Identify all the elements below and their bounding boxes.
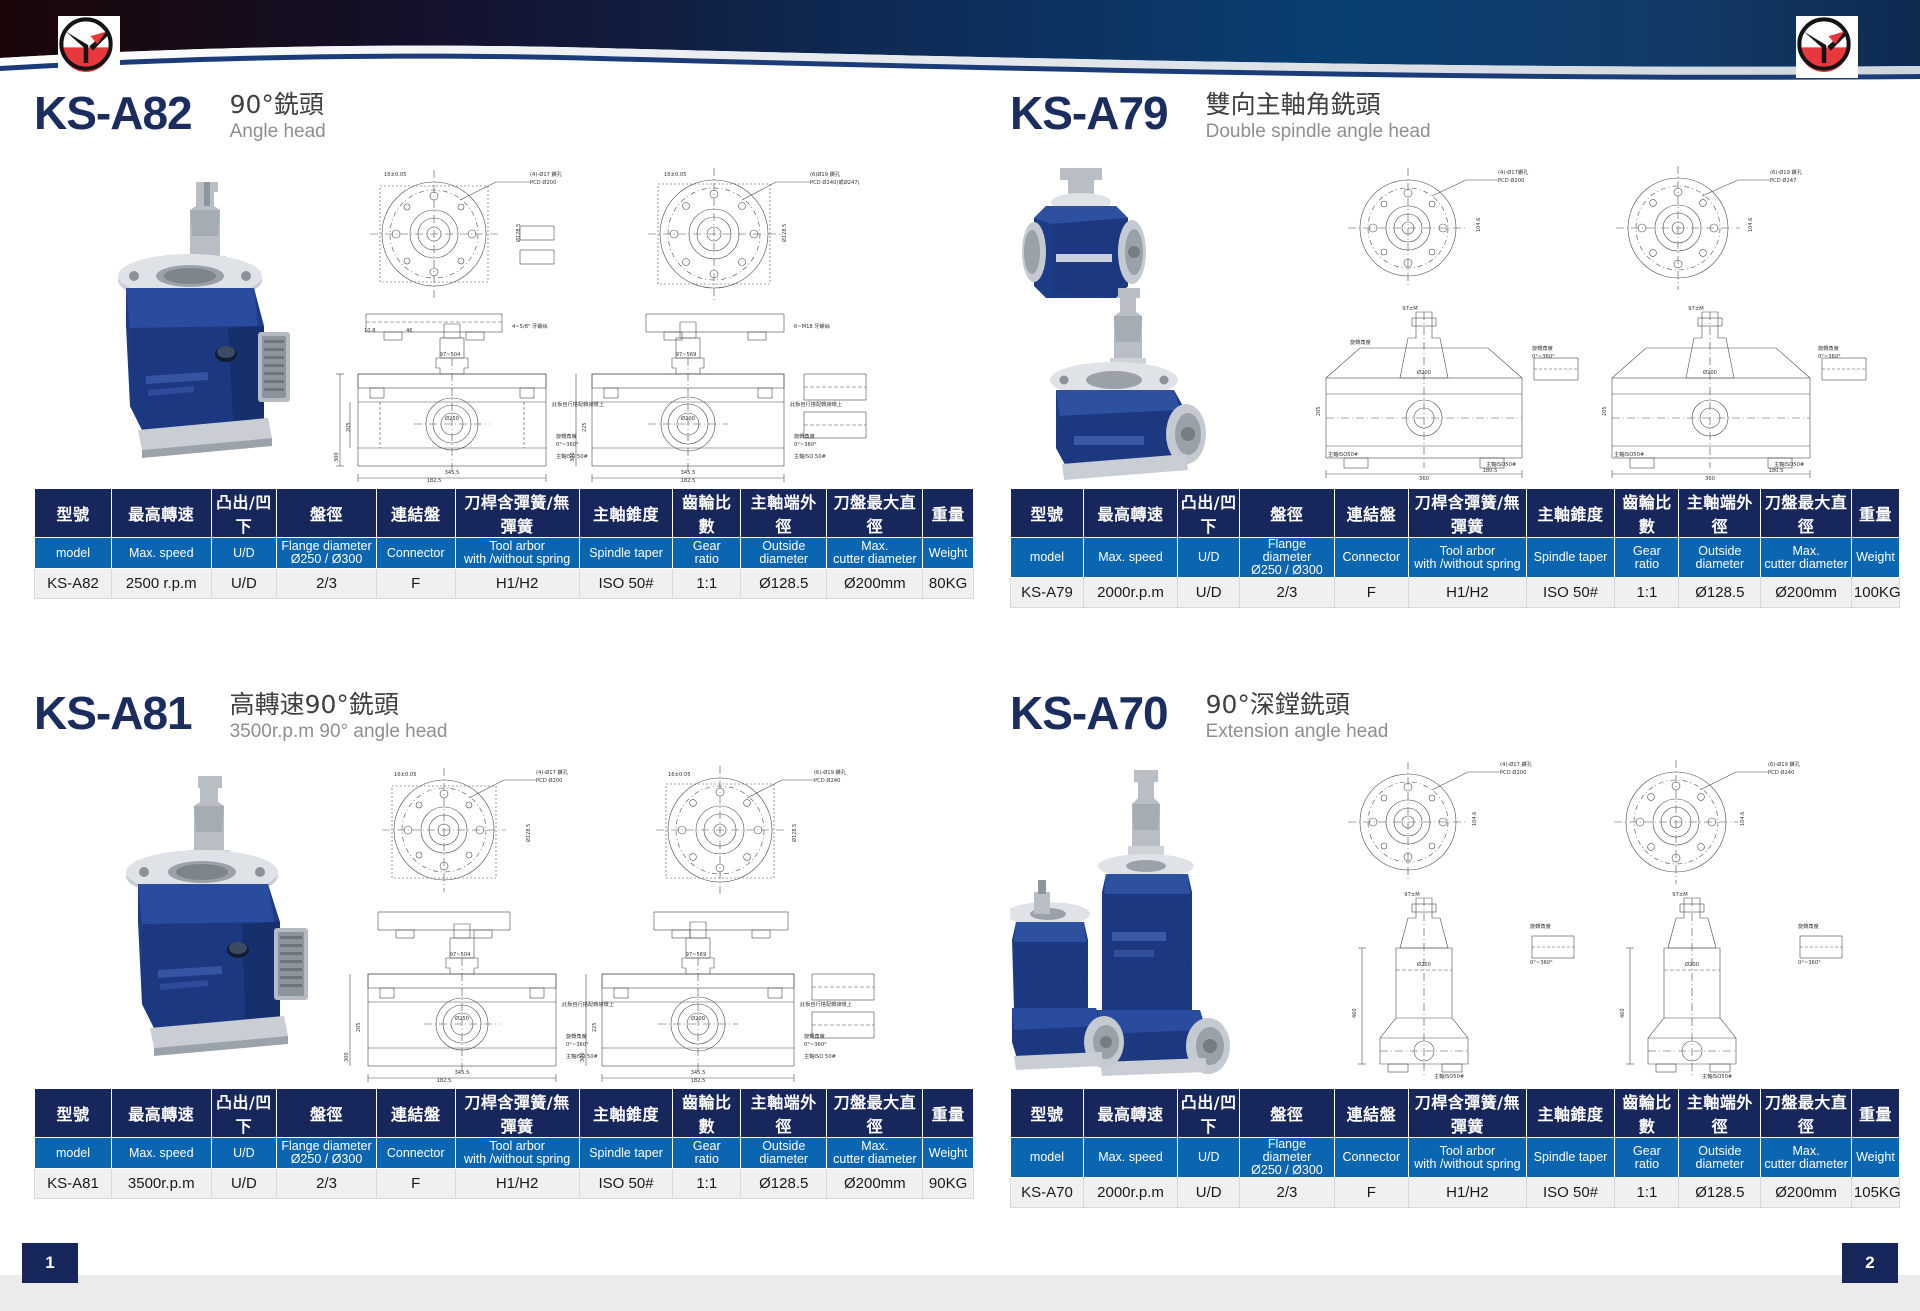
dwg-note: 此板自行搭配轉接環上 (552, 400, 604, 408)
dwg-note: 旋轉角度 (1798, 922, 1819, 930)
dwg-dim: 97±M (1402, 306, 1417, 312)
th-cn-max-speed: 最高轉速 (111, 489, 211, 538)
dwg-dim: 97±M (1672, 892, 1687, 898)
th-en-ud: U/D (1178, 1138, 1240, 1178)
th-cn-weight: 重量 (923, 489, 974, 538)
product-illustration-a79: (4)-Ø17鑽孔 PCD Ø200 (6)-Ø19 鑽孔 PCD Ø247 旋… (1010, 158, 1900, 488)
th-en-tool-arbor: Tool arborwith /without spring (1409, 538, 1526, 578)
table-row: KS-A81 3500r.p.m U/D 2/3 F H1/H2 ISO 50#… (35, 1169, 974, 1199)
th-en-flange: Flange diameterØ250 / Ø300 (1240, 1138, 1334, 1178)
cell-flange: 2/3 (277, 1169, 377, 1199)
th-en-cutter-dia: Max.cutter diameter (827, 1138, 923, 1169)
cell-ud: U/D (211, 1169, 277, 1199)
cell-taper: ISO 50# (579, 569, 673, 599)
product-code: KS-A79 (1010, 88, 1168, 138)
th-cn-taper: 主軸錐度 (579, 489, 673, 538)
th-en-model: model (35, 538, 112, 569)
table-header-cn: 型號 最高轉速 凸出/凹下 盤徑 連結盤 刀桿含彈簧/無彈簧 主軸錐度 齒輪比數… (1011, 1089, 1900, 1138)
extension-angle-head-photo-a70 (1010, 764, 1260, 1084)
th-en-taper: Spindle taper (1526, 1138, 1615, 1178)
th-cn-tool-arbor: 刀桿含彈簧/無彈簧 (455, 1089, 579, 1138)
th-en-taper: Spindle taper (1526, 538, 1615, 578)
product-title-a70: KS-A70 90°深鏜銑頭 Extension angle head (1010, 688, 1900, 750)
cell-model: KS-A79 (1011, 578, 1084, 608)
dwg-note: PCD Ø200 (530, 179, 556, 186)
th-en-flange: Flange diameterØ250 / Ø300 (1240, 538, 1334, 578)
dwg-note: 0°~360° (566, 1042, 589, 1048)
product-code: KS-A82 (34, 88, 192, 138)
th-en-gear-ratio: Gearratio (673, 1138, 741, 1169)
dwg-note: (6)-Ø19 鑽孔 (1770, 168, 1803, 176)
dwg-dim: 16±0.05 (668, 772, 691, 778)
cell-outside-dia: Ø128.5 (741, 569, 827, 599)
footer-divider (0, 1272, 1920, 1275)
technical-drawing: (4)-Ø17 鑽孔 PCD Ø200 (6)-Ø19 鑽孔 PCD Ø240 … (1300, 758, 1900, 1093)
header-banner-graphic (0, 0, 1920, 80)
cell-gear-ratio: 1:1 (673, 569, 741, 599)
dwg-note: 主軸ISO50# (1486, 460, 1516, 468)
dwg-note: 0°~360° (556, 442, 579, 448)
th-en-weight: Weight (1851, 1138, 1899, 1178)
page-header (0, 0, 1920, 80)
dwg-dim: Ø200 (681, 415, 695, 422)
th-cn-outside-dia: 主軸端外徑 (1679, 1089, 1761, 1138)
th-cn-ud: 凸出/凹下 (1178, 1089, 1240, 1138)
th-en-gear-ratio: Gearratio (673, 538, 741, 569)
th-en-weight: Weight (923, 538, 974, 569)
dwg-note: 旋轉角度 (566, 1032, 587, 1040)
product-title-en: Angle head (230, 120, 326, 143)
cell-tool-arbor: H1/H2 (1409, 578, 1526, 608)
dwg-dim: 16±0.05 (664, 172, 687, 178)
dwg-dim: 16±0.05 (384, 172, 407, 178)
cell-cutter-dia: Ø200mm (1761, 1178, 1852, 1208)
product-photo (1016, 158, 1276, 493)
dwg-dim: 360 (1419, 476, 1429, 482)
th-en-connector: Connector (376, 538, 455, 569)
product-title-cn: 雙向主軸角銑頭 (1206, 90, 1431, 119)
dwg-dim: Ø200 (691, 1015, 705, 1022)
cell-cutter-dia: Ø200mm (1761, 578, 1852, 608)
dwg-note: (6)Ø19 鑽孔 (810, 170, 841, 178)
cell-cutter-dia: Ø200mm (827, 1169, 923, 1199)
dwg-note: 主軸ISO50# (1614, 450, 1644, 458)
th-en-flange: Flange diameterØ250 / Ø300 (277, 538, 377, 569)
dwg-note: 旋轉角度 (1350, 338, 1371, 346)
th-en-outside-dia: Outsidediameter (1679, 538, 1761, 578)
dwg-dim: Ø250 (455, 1015, 469, 1022)
product-title-cn: 90°深鏜銑頭 (1206, 690, 1389, 719)
th-en-taper: Spindle taper (579, 1138, 673, 1169)
th-cn-taper: 主軸錐度 (579, 1089, 673, 1138)
th-cn-connector: 連結盤 (376, 489, 455, 538)
angle-head-photo-a82 (68, 176, 298, 476)
th-cn-cutter-dia: 刀盤最大直徑 (1761, 489, 1852, 538)
dwg-dim: 182.5 (681, 478, 696, 482)
product-illustration-a82: (4)-Ø17 鑽孔 PCD Ø200 (6)Ø19 鑽孔 PCD Ø240(或… (34, 158, 974, 488)
spec-table-a70: 型號 最高轉速 凸出/凹下 盤徑 連結盤 刀桿含彈簧/無彈簧 主軸錐度 齒輪比數… (1010, 1088, 1900, 1208)
th-cn-max-speed: 最高轉速 (111, 1089, 211, 1138)
dwg-dim: 300 (334, 452, 340, 462)
dwg-dim: 205 (356, 1022, 362, 1032)
th-cn-gear-ratio: 齒輪比數 (1615, 489, 1679, 538)
cell-model: KS-A81 (35, 1169, 112, 1199)
th-cn-cutter-dia: 刀盤最大直徑 (1761, 1089, 1852, 1138)
cell-outside-dia: Ø128.5 (741, 1169, 827, 1199)
dwg-dim: 360 (1705, 476, 1715, 482)
dwg-dim: 97~504 (450, 952, 472, 958)
th-en-max-speed: Max. speed (111, 538, 211, 569)
th-en-model: model (35, 1138, 112, 1169)
dwg-dim: 104.6 (1476, 218, 1482, 232)
cell-outside-dia: Ø128.5 (1679, 578, 1761, 608)
th-en-cutter-dia: Max.cutter diameter (1761, 538, 1852, 578)
th-en-tool-arbor: Tool arborwith /without spring (455, 538, 579, 569)
product-title-en: Extension angle head (1206, 720, 1389, 743)
dwg-dim: 180.5 (1483, 468, 1498, 474)
technical-drawing: (4)-Ø17 鑽孔 PCD Ø200 (6)Ø19 鑽孔 PCD Ø240(或… (324, 162, 944, 487)
dwg-dim: 225 (592, 1022, 598, 1032)
cell-connector: F (1334, 578, 1409, 608)
technical-drawing-a81: (4)-Ø17 鑽孔 PCD Ø200 (6)-Ø19 鑽孔 PCD Ø240 … (334, 762, 944, 1082)
dwg-dim: 104.6 (1472, 812, 1478, 826)
spec-table-a81: 型號 最高轉速 凸出/凹下 盤徑 連結盤 刀桿含彈簧/無彈簧 主軸錐度 齒輪比數… (34, 1088, 974, 1199)
dwg-dim: Ø128.5 (781, 224, 788, 242)
th-cn-ud: 凸出/凹下 (211, 489, 277, 538)
th-en-cutter-dia: Max.cutter diameter (827, 538, 923, 569)
th-cn-connector: 連結盤 (1334, 1089, 1409, 1138)
dwg-dim: Ø200 (1685, 961, 1699, 968)
dwg-note: 旋轉角度 (1530, 922, 1551, 930)
dwg-dim: Ø250 (445, 415, 459, 422)
cell-ud: U/D (1178, 578, 1240, 608)
th-en-gear-ratio: Gearratio (1615, 538, 1679, 578)
cell-ud: U/D (211, 569, 277, 599)
th-en-cutter-dia: Max.cutter diameter (1761, 1138, 1852, 1178)
th-en-model: model (1011, 1138, 1084, 1178)
product-block-a70: KS-A70 90°深鏜銑頭 Extension angle head (1010, 688, 1900, 1208)
dwg-dim: 345.5 (445, 470, 460, 476)
th-en-max-speed: Max. speed (1083, 1138, 1177, 1178)
dwg-note: 0°~360° (1798, 960, 1821, 966)
cell-ud: U/D (1178, 1178, 1240, 1208)
product-title-a79: KS-A79 雙向主軸角銑頭 Double spindle angle head (1010, 88, 1900, 150)
th-en-gear-ratio: Gearratio (1615, 1138, 1679, 1178)
table-header-en: model Max. speed U/D Flange diameterØ250… (35, 1138, 974, 1169)
dwg-dim: 460 (1620, 1008, 1626, 1018)
th-en-taper: Spindle taper (579, 538, 673, 569)
product-title-a81: KS-A81 高轉速90°銑頭 3500r.p.m 90° angle head (34, 688, 974, 750)
th-cn-model: 型號 (1011, 489, 1084, 538)
cell-taper: ISO 50# (1526, 578, 1615, 608)
th-cn-gear-ratio: 齒輪比數 (1615, 1089, 1679, 1138)
cell-weight: 100KG (1851, 578, 1899, 608)
th-cn-outside-dia: 主軸端外徑 (741, 1089, 827, 1138)
th-en-weight: Weight (1851, 538, 1899, 578)
product-code: KS-A81 (34, 688, 192, 738)
dwg-dim: 205 (346, 422, 352, 432)
cell-max-speed: 2000r.p.m (1083, 578, 1177, 608)
dwg-note: PCD Ø200 (1500, 769, 1526, 776)
th-en-outside-dia: Outsidediameter (741, 1138, 827, 1169)
cell-taper: ISO 50# (579, 1169, 673, 1199)
cell-model: KS-A70 (1011, 1178, 1084, 1208)
product-photo (68, 176, 298, 481)
th-en-max-speed: Max. speed (1083, 538, 1177, 578)
dwg-dim: 97±M (1404, 892, 1419, 898)
cell-gear-ratio: 1:1 (1615, 578, 1679, 608)
dwg-dim: 104.6 (1748, 218, 1754, 232)
product-title-cn: 90°銑頭 (230, 90, 326, 119)
page-number-right: 2 (1842, 1243, 1898, 1283)
dwg-dim: 97±M (1688, 306, 1703, 312)
dwg-note: (4)-Ø17 鑽孔 (536, 768, 569, 776)
th-en-connector: Connector (1334, 538, 1409, 578)
dwg-note: 0°~360° (804, 1042, 827, 1048)
cell-tool-arbor: H1/H2 (455, 1169, 579, 1199)
dwg-note: 0°~360° (1532, 354, 1555, 360)
dwg-note: 旋轉角度 (1532, 344, 1553, 352)
company-logo-right (1796, 16, 1858, 78)
th-en-flange: Flange diameterØ250 / Ø300 (277, 1138, 377, 1169)
cell-max-speed: 2500 r.p.m (111, 569, 211, 599)
th-cn-weight: 重量 (1851, 489, 1899, 538)
dwg-dim: 300 (570, 452, 576, 462)
cell-outside-dia: Ø128.5 (1679, 1178, 1761, 1208)
dwg-note: PCD Ø240 (1768, 769, 1794, 776)
company-logo-icon (58, 16, 114, 72)
th-cn-tool-arbor: 刀桿含彈簧/無彈簧 (1409, 1089, 1526, 1138)
dwg-dim: 97~504 (440, 352, 462, 358)
dwg-dim: 182.5 (437, 1078, 452, 1082)
th-cn-model: 型號 (35, 489, 112, 538)
table-header-en: model Max. speed U/D Flange diameterØ250… (1011, 1138, 1900, 1178)
th-en-ud: U/D (211, 1138, 277, 1169)
dwg-note: 旋轉角度 (794, 432, 815, 440)
th-en-outside-dia: Outsidediameter (1679, 1138, 1761, 1178)
th-cn-max-speed: 最高轉速 (1083, 1089, 1177, 1138)
cell-gear-ratio: 1:1 (673, 1169, 741, 1199)
dwg-note: 0°~360° (1818, 354, 1841, 360)
dwg-note: (6)-Ø19 鑽孔 (1768, 760, 1801, 768)
technical-drawing-a82: (4)-Ø17 鑽孔 PCD Ø200 (6)Ø19 鑽孔 PCD Ø240(或… (324, 162, 944, 482)
cell-flange: 2/3 (1240, 578, 1334, 608)
dwg-dim: 345.5 (691, 1070, 706, 1076)
th-cn-weight: 重量 (923, 1089, 974, 1138)
product-illustration-a70: (4)-Ø17 鑽孔 PCD Ø200 (6)-Ø19 鑽孔 PCD Ø240 … (1010, 758, 1900, 1088)
th-cn-flange: 盤徑 (277, 1089, 377, 1138)
table-header-en: model Max. speed U/D Flange diameterØ250… (35, 538, 974, 569)
th-cn-flange: 盤徑 (1240, 489, 1334, 538)
product-title-en: Double spindle angle head (1206, 120, 1431, 143)
cell-tool-arbor: H1/H2 (455, 569, 579, 599)
product-photo (1010, 764, 1260, 1089)
dwg-note: 此板自行搭配轉接環上 (790, 400, 842, 408)
th-en-max-speed: Max. speed (111, 1138, 211, 1169)
cell-cutter-dia: Ø200mm (827, 569, 923, 599)
th-en-ud: U/D (1178, 538, 1240, 578)
th-en-connector: Connector (376, 1138, 455, 1169)
company-logo-left (58, 16, 120, 78)
dwg-note: 此板自行搭配轉接環上 (800, 1000, 852, 1008)
dwg-dim: 97~569 (676, 352, 697, 358)
dwg-note: (4)-Ø17鑽孔 (1498, 168, 1529, 176)
cell-connector: F (376, 1169, 455, 1199)
th-cn-model: 型號 (1011, 1089, 1084, 1138)
table-row: KS-A79 2000r.p.m U/D 2/3 F H1/H2 ISO 50#… (1011, 578, 1900, 608)
technical-drawing: (4)-Ø17 鑽孔 PCD Ø200 (6)-Ø19 鑽孔 PCD Ø240 … (334, 762, 944, 1087)
th-cn-tool-arbor: 刀桿含彈簧/無彈簧 (1409, 489, 1526, 538)
dwg-dim: 345.5 (455, 1070, 470, 1076)
cell-weight: 105KG (1851, 1178, 1899, 1208)
dwg-note: 主軸ISO50# (1702, 1072, 1732, 1080)
th-cn-cutter-dia: 刀盤最大直徑 (827, 1089, 923, 1138)
dwg-dim: 460 (1352, 1008, 1358, 1018)
th-cn-connector: 連結盤 (376, 1089, 455, 1138)
technical-drawing-a70: (4)-Ø17 鑽孔 PCD Ø200 (6)-Ø19 鑽孔 PCD Ø240 … (1300, 758, 1900, 1088)
dwg-dim: Ø128.5 (525, 824, 532, 842)
th-cn-connector: 連結盤 (1334, 489, 1409, 538)
dwg-dim: 182.5 (427, 478, 442, 482)
cell-model: KS-A82 (35, 569, 112, 599)
th-cn-cutter-dia: 刀盤最大直徑 (827, 489, 923, 538)
th-cn-ud: 凸出/凹下 (1178, 489, 1240, 538)
dwg-note: 旋轉角度 (556, 432, 577, 440)
dwg-dim: 300 (580, 1052, 586, 1062)
dwg-note: (4)-Ø17 鑽孔 (1500, 760, 1533, 768)
th-en-model: model (1011, 538, 1084, 578)
th-cn-model: 型號 (35, 1089, 112, 1138)
dwg-note: 主軸ISO50# (1328, 450, 1358, 458)
catalog-page: KS-A82 90°銑頭 Angle head (0, 0, 1920, 1311)
dwg-dim: 205 (1602, 406, 1608, 416)
double-spindle-photo-a79 (1016, 158, 1276, 488)
footer-bar (0, 1275, 1920, 1311)
th-cn-tool-arbor: 刀桿含彈簧/無彈簧 (455, 489, 579, 538)
th-cn-taper: 主軸錐度 (1526, 489, 1615, 538)
product-photo (104, 772, 344, 1077)
th-cn-gear-ratio: 齒輪比數 (673, 1089, 741, 1138)
table-header-cn: 型號 最高轉速 凸出/凹下 盤徑 連結盤 刀桿含彈簧/無彈簧 主軸錐度 齒輪比數… (35, 489, 974, 538)
th-cn-outside-dia: 主軸端外徑 (741, 489, 827, 538)
dwg-note: 0°~360° (794, 442, 817, 448)
dwg-dim: 10.8 (364, 328, 376, 334)
table-header-cn: 型號 最高轉速 凸出/凹下 盤徑 連結盤 刀桿含彈簧/無彈簧 主軸錐度 齒輪比數… (1011, 489, 1900, 538)
dwg-note: 主軸ISO 50# (794, 452, 826, 460)
table-header-en: model Max. speed U/D Flange diameterØ250… (1011, 538, 1900, 578)
cell-max-speed: 3500r.p.m (111, 1169, 211, 1199)
spec-table-a79: 型號 最高轉速 凸出/凹下 盤徑 連結盤 刀桿含彈簧/無彈簧 主軸錐度 齒輪比數… (1010, 488, 1900, 608)
dwg-note: 4~5/8" 牙螺絲 (512, 322, 548, 330)
page-footer: 1 2 (0, 1255, 1920, 1311)
company-logo-icon (1796, 16, 1852, 72)
th-en-ud: U/D (211, 538, 277, 569)
dwg-dim: Ø200 (1703, 369, 1717, 376)
dwg-dim: 182.5 (691, 1078, 706, 1082)
dwg-dim: Ø128.5 (791, 824, 798, 842)
cell-flange: 2/3 (277, 569, 377, 599)
dwg-note: 主軸ISO50# (1434, 1072, 1464, 1080)
dwg-dim: 345.5 (681, 470, 696, 476)
dwg-note: 主軸ISO 50# (804, 1052, 836, 1060)
technical-drawing-a79: (4)-Ø17鑽孔 PCD Ø200 (6)-Ø19 鑽孔 PCD Ø247 旋… (1300, 162, 1900, 482)
dwg-note: PCD Ø240(或Ø247) (810, 178, 860, 186)
table-row: KS-A82 2500 r.p.m U/D 2/3 F H1/H2 ISO 50… (35, 569, 974, 599)
th-cn-flange: 盤徑 (277, 489, 377, 538)
cell-max-speed: 2000r.p.m (1083, 1178, 1177, 1208)
th-cn-weight: 重量 (1851, 1089, 1899, 1138)
product-code: KS-A70 (1010, 688, 1168, 738)
angle-head-photo-a81 (104, 772, 344, 1072)
product-illustration-a81: (4)-Ø17 鑽孔 PCD Ø200 (6)-Ø19 鑽孔 PCD Ø240 … (34, 758, 974, 1088)
dwg-note: PCD Ø247 (1770, 177, 1796, 184)
dwg-note: 此板自行搭配轉接環上 (562, 1000, 614, 1008)
table-header-cn: 型號 最高轉速 凸出/凹下 盤徑 連結盤 刀桿含彈簧/無彈簧 主軸錐度 齒輪比數… (35, 1089, 974, 1138)
product-title-cn: 高轉速90°銑頭 (230, 690, 448, 719)
cell-gear-ratio: 1:1 (1615, 1178, 1679, 1208)
dwg-note: 旋轉角度 (804, 1032, 825, 1040)
dwg-note: 6~M18 牙螺絲 (794, 322, 830, 330)
product-block-a79: KS-A79 雙向主軸角銑頭 Double spindle angle head (1010, 88, 1900, 608)
cell-tool-arbor: H1/H2 (1409, 1178, 1526, 1208)
dwg-dim: 205 (1316, 406, 1322, 416)
dwg-dim: 97~569 (686, 952, 707, 958)
dwg-dim: 225 (582, 422, 588, 432)
dwg-dim: 104.6 (1740, 812, 1746, 826)
dwg-note: PCD Ø200 (536, 777, 562, 784)
cell-flange: 2/3 (1240, 1178, 1334, 1208)
th-en-tool-arbor: Tool arborwith /without spring (1409, 1138, 1526, 1178)
th-cn-flange: 盤徑 (1240, 1089, 1334, 1138)
dwg-dim: Ø250 (1417, 961, 1431, 968)
dwg-dim: 180.5 (1769, 468, 1784, 474)
th-cn-max-speed: 最高轉速 (1083, 489, 1177, 538)
product-title-a82: KS-A82 90°銑頭 Angle head (34, 88, 974, 150)
page-number-left: 1 (22, 1243, 78, 1283)
th-cn-gear-ratio: 齒輪比數 (673, 489, 741, 538)
dwg-note: 旋轉角度 (1818, 344, 1839, 352)
product-block-a82: KS-A82 90°銑頭 Angle head (34, 88, 974, 599)
dwg-dim: 300 (344, 1052, 350, 1062)
th-cn-outside-dia: 主軸端外徑 (1679, 489, 1761, 538)
dwg-dim: 16±0.05 (394, 772, 417, 778)
cell-weight: 80KG (923, 569, 974, 599)
spec-table-a82: 型號 最高轉速 凸出/凹下 盤徑 連結盤 刀桿含彈簧/無彈簧 主軸錐度 齒輪比數… (34, 488, 974, 599)
th-en-outside-dia: Outsidediameter (741, 538, 827, 569)
cell-taper: ISO 50# (1526, 1178, 1615, 1208)
dwg-dim: Ø128.5 (515, 224, 522, 242)
th-en-tool-arbor: Tool arborwith /without spring (455, 1138, 579, 1169)
dwg-note: 主軸ISO50# (1774, 460, 1804, 468)
table-row: KS-A70 2000r.p.m U/D 2/3 F H1/H2 ISO 50#… (1011, 1178, 1900, 1208)
th-en-weight: Weight (923, 1138, 974, 1169)
th-en-connector: Connector (1334, 1138, 1409, 1178)
th-cn-taper: 主軸錐度 (1526, 1089, 1615, 1138)
technical-drawing: (4)-Ø17鑽孔 PCD Ø200 (6)-Ø19 鑽孔 PCD Ø247 旋… (1300, 162, 1900, 487)
dwg-note: 0°~360° (1530, 960, 1553, 966)
dwg-note: PCD Ø200 (1498, 177, 1524, 184)
th-cn-ud: 凸出/凹下 (211, 1089, 277, 1138)
dwg-note: PCD Ø240 (814, 777, 840, 784)
dwg-dim: Ø200 (1417, 369, 1431, 376)
cell-connector: F (376, 569, 455, 599)
product-block-a81: KS-A81 高轉速90°銑頭 3500r.p.m 90° angle head (34, 688, 974, 1199)
dwg-dim: 46 (406, 328, 413, 334)
dwg-note: (4)-Ø17 鑽孔 (530, 170, 563, 178)
dwg-note: (6)-Ø19 鑽孔 (814, 768, 847, 776)
cell-connector: F (1334, 1178, 1409, 1208)
product-title-en: 3500r.p.m 90° angle head (230, 720, 448, 743)
